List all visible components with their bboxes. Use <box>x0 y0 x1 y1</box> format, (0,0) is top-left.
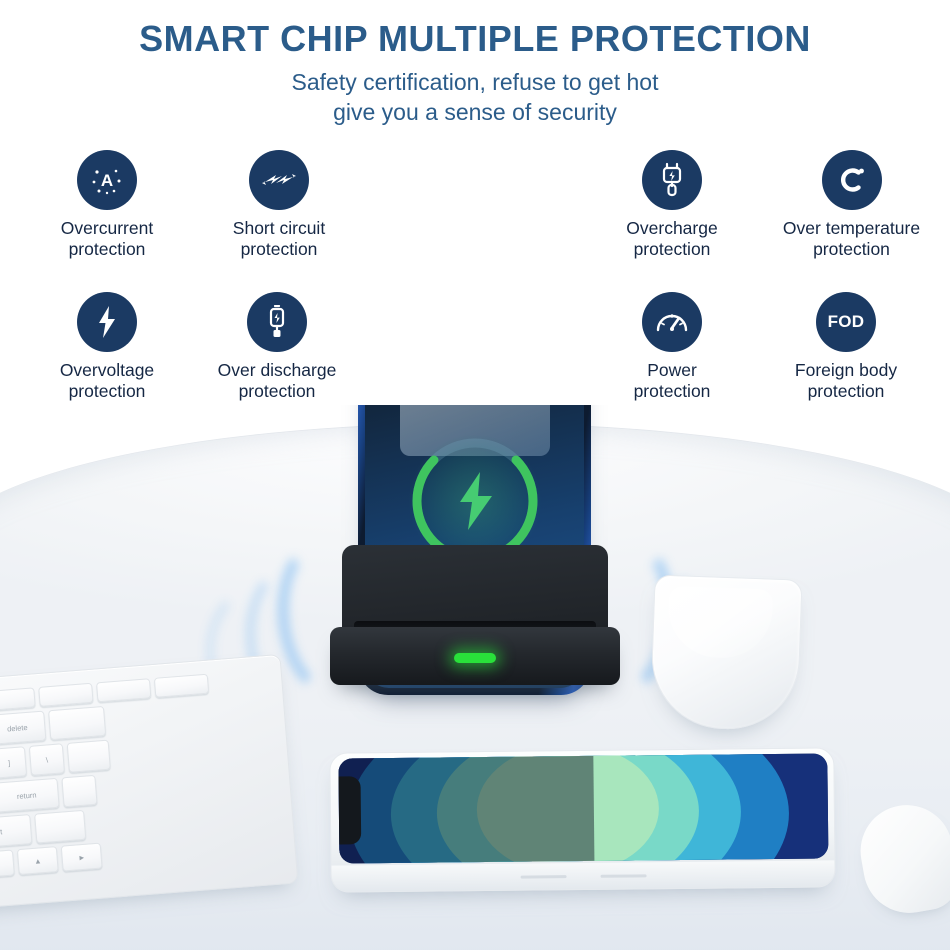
feature-label: Power protection <box>592 360 752 402</box>
subtitle: Safety certification, refuse to get hot … <box>0 67 950 128</box>
speaker-grill <box>600 874 646 877</box>
key <box>38 683 93 707</box>
feature-over-discharge: Over discharge protection <box>197 292 357 402</box>
page-title: SMART CHIP MULTIPLE PROTECTION <box>0 20 950 58</box>
feature-overcharge: Overcharge protection <box>592 150 752 260</box>
feature-label: Overcurrent protection <box>27 218 187 260</box>
feature-label: Over temperature protection <box>764 218 939 260</box>
feature-overcurrent: A Overcurrent protection <box>27 150 187 260</box>
key-delete: delete <box>0 711 46 745</box>
feature-label: Over discharge protection <box>197 360 357 402</box>
key: ] <box>0 746 27 779</box>
feature-label: Overvoltage protection <box>27 360 187 402</box>
subtitle-line-2: give you a sense of security <box>0 97 950 127</box>
product-infographic: SMART CHIP MULTIPLE PROTECTION Safety ce… <box>0 0 950 950</box>
feature-over-temperature: Over temperature protection <box>764 150 939 260</box>
celsius-icon <box>822 150 882 210</box>
key <box>96 678 151 702</box>
key <box>48 706 106 740</box>
feature-overvoltage: Overvoltage protection <box>27 292 187 402</box>
bolt-icon <box>77 292 137 352</box>
key <box>61 775 97 808</box>
speaker-grill <box>520 875 566 878</box>
feature-label: Foreign body protection <box>766 360 926 402</box>
lightning-bolts-icon <box>249 150 309 210</box>
subtitle-line-1: Safety certification, refuse to get hot <box>292 69 659 95</box>
header: SMART CHIP MULTIPLE PROTECTION Safety ce… <box>0 0 950 140</box>
screen-shadow-overlay <box>338 756 594 864</box>
gauge-icon <box>642 292 702 352</box>
key-return: return <box>0 778 60 813</box>
feature-short-circuit: Short circuit protection <box>199 150 359 260</box>
phone-flat-notch <box>339 776 362 844</box>
battery-plug-icon <box>247 292 307 352</box>
key-arrow-right: ► <box>61 843 103 872</box>
key <box>34 810 86 844</box>
key-arrow-left: ◄ <box>0 849 15 878</box>
key: \ <box>29 743 65 776</box>
svg-text:A: A <box>101 171 113 190</box>
wireless-keyboard: O - = delete O P [ ] \ L ; ' return <box>0 654 298 916</box>
charge-bolt-icon <box>452 470 498 532</box>
charging-dock-stack: 75% Charged <box>330 405 620 755</box>
key-arrow-updown: ▲ <box>17 846 59 875</box>
phone-flat <box>329 747 835 892</box>
feature-label: Short circuit protection <box>199 218 359 260</box>
atom-a-icon: A <box>77 150 137 210</box>
phone-flat-bottom-edge <box>331 860 834 891</box>
key-shift: shift <box>0 814 32 850</box>
feature-power: Power protection <box>592 292 752 402</box>
phone-flat-screen <box>338 753 828 863</box>
fod-text-icon: FOD <box>816 292 876 352</box>
key <box>67 740 111 773</box>
feature-label: Overcharge protection <box>592 218 752 260</box>
fod-label: FOD <box>828 312 865 332</box>
power-plug-icon <box>642 150 702 210</box>
dock-led-indicator <box>454 653 496 663</box>
dock-base <box>330 545 620 687</box>
feature-foreign-body: FOD Foreign body protection <box>766 292 926 402</box>
product-photo-scene: O - = delete O P [ ] \ L ; ' return <box>0 405 950 950</box>
key <box>154 674 209 698</box>
